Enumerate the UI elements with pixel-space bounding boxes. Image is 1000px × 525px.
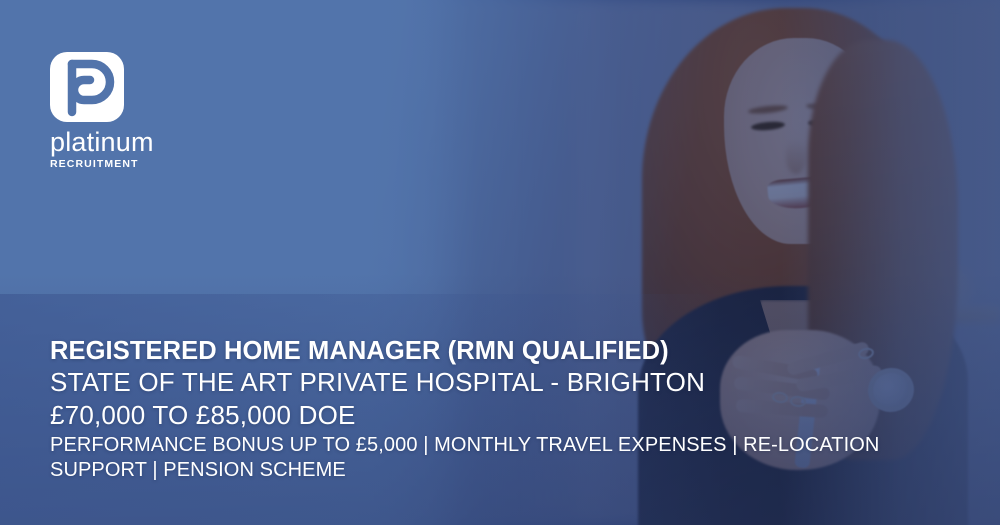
- logo-tagline: RECRUITMENT: [50, 159, 170, 170]
- job-subtitle: STATE OF THE ART PRIVATE HOSPITAL - BRIG…: [50, 368, 930, 398]
- job-salary: £70,000 TO £85,000 DOE: [50, 400, 930, 430]
- job-advert-banner: platinum RECRUITMENT REGISTERED HOME MAN…: [0, 0, 1000, 525]
- job-title: REGISTERED HOME MANAGER (RMN QUALIFIED): [50, 337, 930, 366]
- job-copy-block: REGISTERED HOME MANAGER (RMN QUALIFIED) …: [50, 337, 930, 482]
- platinum-p-logo-icon: [50, 52, 124, 122]
- job-benefits: PERFORMANCE BONUS UP TO £5,000 | MONTHLY…: [50, 433, 890, 482]
- brand-logo[interactable]: platinum RECRUITMENT: [50, 52, 170, 170]
- banner-content: platinum RECRUITMENT REGISTERED HOME MAN…: [0, 0, 1000, 525]
- logo-wordmark: platinum: [50, 129, 170, 156]
